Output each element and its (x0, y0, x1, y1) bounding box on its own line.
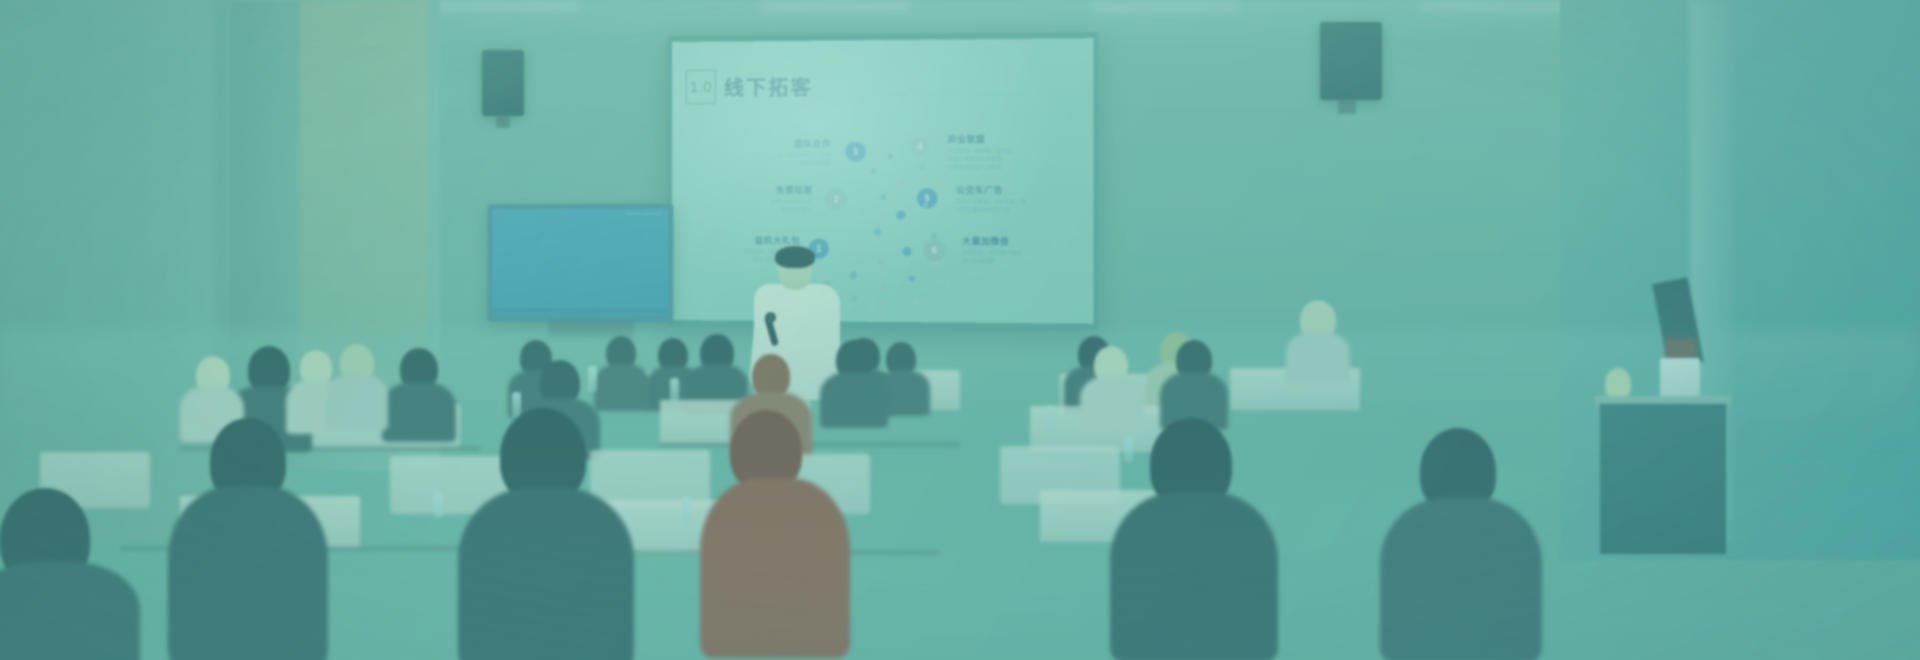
slide-dot (933, 261, 938, 266)
slide-bubble-2: 2 (825, 188, 847, 210)
slide-dot (878, 259, 884, 265)
slide-dot (896, 210, 905, 219)
slide-item-left-1: 团队合作 以小组为单位分工协作 提升拓客效率 (710, 138, 831, 169)
water-bottle (682, 496, 691, 522)
water-bottle (670, 378, 679, 404)
audience-body (1286, 332, 1350, 384)
slide-dot (902, 247, 911, 256)
slide-dot (919, 164, 925, 170)
slide-item-right-4: 异业联盟 与母婴店、美容院、健身房、 服装店等商家互换客源， 共享会员资源扩大覆… (948, 133, 1090, 172)
slide-dot (880, 283, 887, 290)
slide-title: 线下拓客 (724, 71, 813, 101)
ceiling-speaker-right (1320, 22, 1382, 100)
slide-dot (870, 168, 877, 175)
slide-section-badge: 1.0 (686, 70, 716, 104)
ceiling-light (1090, 2, 1240, 12)
audience-body-foreground (1110, 492, 1278, 660)
slide-dot (874, 229, 881, 236)
ceiling-light (1420, 2, 1570, 12)
ceiling-light (760, 2, 910, 12)
slide-item-right-6: 大量加微信 创造机会，添加客户微信 建立私域流量 (962, 235, 1093, 266)
audience-body (594, 364, 650, 412)
slide-dot (888, 154, 893, 159)
slide-dot (909, 275, 915, 281)
water-bottle (1124, 436, 1133, 462)
slide-item-left-2: 免费祛斑 免费体验项目引流 吸引到店客户 (692, 184, 813, 214)
display-brand-label: SMART DISPLAY (626, 212, 662, 216)
audience-body (382, 382, 456, 442)
water-bottle (588, 366, 597, 392)
water-bottle (1046, 406, 1055, 432)
slide-bubble-3: 3 (845, 142, 865, 162)
seminar-banner-image: 1.0 线下拓客 OFFLINE CUSTOMER ACQUISITION 团队… (0, 0, 1920, 660)
ceiling-speaker-left (482, 50, 524, 116)
audience-body-foreground (1380, 498, 1542, 660)
audience-body-foreground (700, 478, 850, 658)
ceiling-light (430, 2, 580, 12)
audience-body-foreground (168, 486, 328, 660)
speaker-bracket-left (496, 116, 510, 128)
slide-dot (880, 194, 886, 200)
speaker-bracket-right (1338, 100, 1356, 114)
audience-body (326, 374, 388, 430)
slide-bubble-4: 4 (911, 137, 930, 155)
slide-bubble-6: 6 (923, 239, 946, 261)
audience-area (0, 300, 1920, 660)
audience-body (820, 372, 888, 428)
projection-screen: 1.0 线下拓客 OFFLINE CUSTOMER ACQUISITION 团队… (672, 38, 1094, 324)
presenter-hair (775, 246, 815, 268)
slide-dot (851, 243, 856, 248)
audience-body (1080, 376, 1144, 432)
slide-dot (931, 233, 937, 239)
slide-item-right-5: 公交车广告 线下广告覆盖，公交车身广告 性价比最高的宣传方式 (956, 184, 1094, 215)
slide-subtitle: OFFLINE CUSTOMER ACQUISITION (874, 92, 1025, 99)
audience-body-foreground (0, 562, 140, 660)
water-bottle (434, 492, 443, 518)
slide-dot (859, 208, 864, 213)
slide-dot (898, 178, 906, 186)
audience-body-foreground (458, 488, 634, 660)
slide-dot (923, 202, 928, 207)
